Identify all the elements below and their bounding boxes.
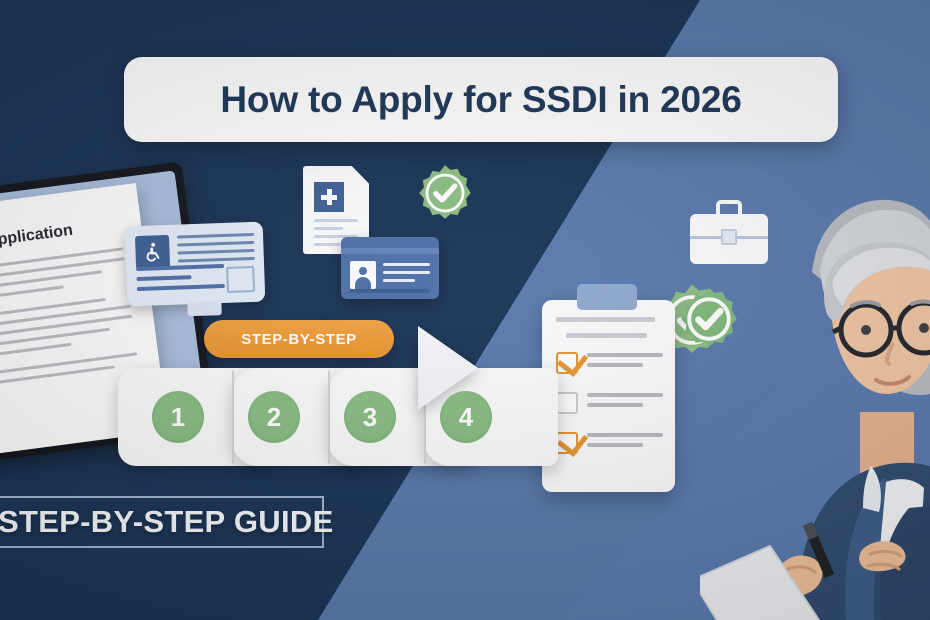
id-card-line: [383, 271, 430, 274]
checklist-item-text: [587, 353, 663, 373]
clipboard-checklist: [542, 300, 675, 492]
checklist-line: [587, 443, 643, 447]
id-card-header-bar: [341, 248, 439, 254]
id-card-line: [136, 275, 191, 281]
checklist-line: [587, 363, 643, 367]
wheelchair-icon: [135, 235, 170, 270]
disability-id-card: [125, 222, 266, 307]
checklist-item[interactable]: [556, 352, 663, 374]
verified-seal-icon: [416, 164, 474, 222]
id-card-photo-box: [226, 266, 255, 293]
avatar-icon: [350, 261, 376, 289]
id-card-line: [177, 241, 254, 247]
banner-label: STEP-BY-STEP GUIDE: [0, 504, 334, 540]
step-number-2[interactable]: 2: [248, 391, 300, 443]
step-number-4[interactable]: 4: [440, 391, 492, 443]
step-divider: [232, 370, 234, 464]
checklist-item[interactable]: [556, 392, 663, 414]
id-card-text-rows: [383, 263, 430, 287]
checklist-item-text: [587, 393, 663, 413]
checkbox-unchecked-icon[interactable]: [556, 392, 578, 414]
id-card-line: [178, 249, 255, 255]
person-illustration: [700, 176, 930, 620]
checklist-item[interactable]: [556, 432, 663, 454]
document-text-line: [314, 227, 343, 230]
id-card-lower-rows: [136, 264, 225, 297]
step-divider: [328, 370, 330, 464]
id-card-tab: [187, 301, 221, 316]
checklist-item-text: [587, 433, 663, 453]
checklist-line: [587, 433, 663, 437]
id-card-line: [137, 284, 225, 291]
id-card-line: [383, 263, 430, 266]
checkbox-checked-icon[interactable]: [556, 432, 578, 454]
identification-card-icon: [341, 237, 439, 299]
clipboard-header-line: [566, 333, 647, 338]
document-text-line: [314, 219, 358, 222]
step-number-3[interactable]: 3: [344, 391, 396, 443]
medical-cross-icon: [314, 182, 344, 212]
step-number-1[interactable]: 1: [152, 391, 204, 443]
checkbox-checked-icon[interactable]: [556, 352, 578, 374]
step-progress-ribbon: 1 2 3 4: [118, 368, 538, 466]
checklist-line: [587, 353, 663, 357]
id-card-footer-bar: [350, 289, 430, 293]
id-card-text-rows: [177, 233, 255, 268]
id-card-line: [178, 257, 255, 263]
clipboard-header-line: [556, 317, 655, 322]
page-title: How to Apply for SSDI in 2026: [220, 79, 741, 121]
id-card-line: [383, 279, 415, 282]
document-text-line: [314, 243, 343, 246]
step-by-step-guide-banner: STEP-BY-STEP GUIDE: [0, 496, 324, 548]
title-card: How to Apply for SSDI in 2026: [124, 57, 838, 142]
clipboard-clip: [577, 284, 637, 310]
checklist-line: [587, 393, 663, 397]
checklist-line: [587, 403, 643, 407]
step-by-step-badge[interactable]: STEP-BY-STEP: [204, 320, 394, 358]
infographic-canvas: SSDI Application: [0, 0, 930, 620]
step-by-step-badge-label: STEP-BY-STEP: [241, 331, 357, 348]
id-card-line: [177, 233, 254, 239]
